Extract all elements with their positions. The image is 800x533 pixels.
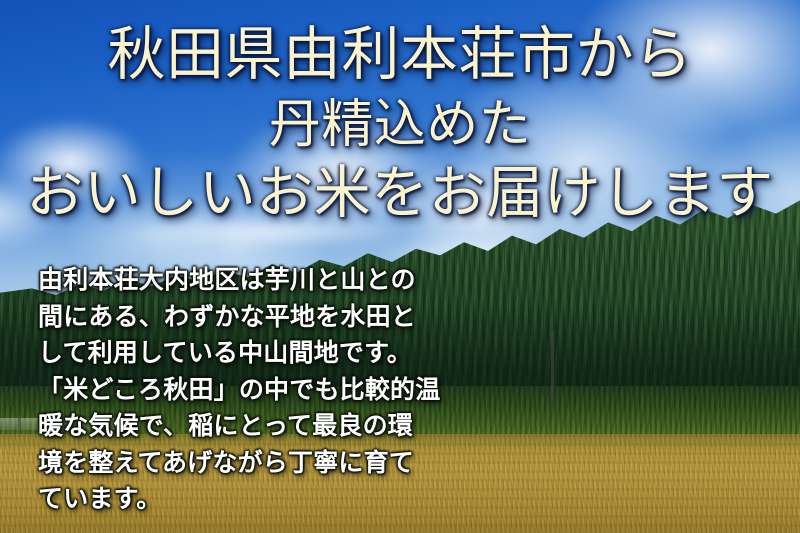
headline-line-2: 丹精込めた xyxy=(0,98,800,153)
utility-pole xyxy=(551,330,554,408)
description-line: 間にある、わずかな平地を水田と xyxy=(38,299,468,336)
description-line: 「米どころ秋田」の中でも比較的温 xyxy=(38,372,468,409)
guardrail-post xyxy=(18,418,21,434)
description-line: 由利本荘大内地区は芋川と山との xyxy=(38,262,468,299)
headline-line-3: おいしいお米をお届けします xyxy=(0,164,800,224)
description-line: 境を整えてあげながら丁寧に育て xyxy=(38,445,468,482)
description-line: 暖な気候で、稲にとって最良の環 xyxy=(38,408,468,445)
description-line: ています。 xyxy=(38,481,468,518)
description-line: して利用している中山間地です。 xyxy=(38,335,468,372)
banner-image: 秋田県由利本荘市から 丹精込めた おいしいお米をお届けします 由利本荘大内地区は… xyxy=(0,0,800,533)
description-paragraph: 由利本荘大内地区は芋川と山との 間にある、わずかな平地を水田と して利用している… xyxy=(38,262,468,518)
headline-line-1: 秋田県由利本荘市から xyxy=(0,24,800,85)
